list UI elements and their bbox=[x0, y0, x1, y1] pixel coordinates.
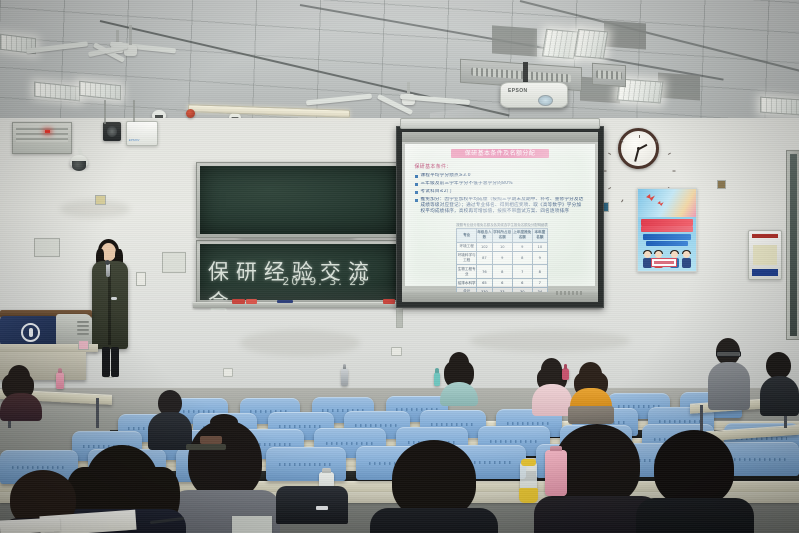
wall-poster bbox=[637, 188, 697, 272]
audience-member bbox=[440, 352, 478, 404]
poster-headline-4 bbox=[646, 241, 688, 246]
ceiling-light-panel bbox=[574, 29, 608, 59]
clock-minute-hand bbox=[634, 148, 639, 161]
ceiling bbox=[0, 0, 799, 128]
wall-smudge bbox=[470, 330, 630, 352]
projector-lens-icon bbox=[538, 95, 553, 106]
audience-member bbox=[0, 365, 42, 423]
slide-bullet: 推免加分：因学业加权平均成绩（按照三学期末及期中、补考、重修学分及达成绩等级对应… bbox=[415, 197, 586, 219]
table-header-cell: 本年度名额 bbox=[532, 229, 547, 243]
pink-thermos bbox=[56, 372, 64, 389]
wall-smudge bbox=[240, 330, 360, 356]
presentation-slide: 保研基本条件及名额分配 保研基本条件： 课程平均学分绩点≥3.0 三年级及前三学… bbox=[405, 144, 595, 286]
slide-subtitle: 保研基本条件： bbox=[415, 163, 452, 170]
desk-leg bbox=[700, 405, 703, 431]
wall-switch-plate[interactable] bbox=[95, 195, 106, 205]
torso bbox=[708, 362, 750, 410]
hair-bun bbox=[210, 414, 238, 430]
presenter-leg-left bbox=[102, 347, 110, 377]
podium-front bbox=[0, 316, 63, 346]
audience-member-foreground bbox=[370, 440, 498, 533]
audience-member bbox=[708, 338, 750, 408]
poster-headline-2 bbox=[641, 226, 692, 232]
audience-member-foreground bbox=[636, 430, 754, 533]
projector-brand-label: EPSON bbox=[508, 88, 528, 94]
head bbox=[654, 430, 734, 506]
microphone[interactable] bbox=[106, 263, 110, 277]
table-header-cell: 上年度推免名额 bbox=[512, 229, 532, 243]
ceiling-light-panel bbox=[760, 97, 799, 116]
wall-clock bbox=[618, 128, 659, 169]
torso bbox=[440, 382, 478, 406]
ceiling-light-panel bbox=[542, 29, 578, 59]
ceiling-tile-dark bbox=[492, 25, 537, 56]
head bbox=[188, 420, 262, 500]
lap bbox=[568, 406, 614, 424]
torso bbox=[0, 393, 42, 421]
desk-item bbox=[186, 444, 226, 450]
poster-figure bbox=[682, 251, 691, 268]
wall-outlet[interactable] bbox=[391, 347, 402, 356]
electrical-panel-box bbox=[12, 122, 72, 154]
slide-bullet: 课程平均学分绩点≥3.0 bbox=[415, 173, 586, 179]
wall-control-panel[interactable] bbox=[748, 230, 782, 280]
presenter bbox=[88, 239, 132, 377]
electrical-conduit bbox=[133, 100, 135, 122]
ceiling-fan bbox=[100, 25, 160, 45]
screen-label bbox=[556, 291, 582, 295]
screen-roller-case bbox=[400, 118, 600, 129]
table-row: 环境工程10210910 bbox=[457, 242, 548, 251]
torso bbox=[532, 384, 572, 416]
wall-outlet[interactable] bbox=[136, 272, 146, 286]
notebook-paper bbox=[0, 517, 60, 533]
chalk-marker[interactable] bbox=[277, 300, 293, 303]
baseball-cap bbox=[276, 486, 348, 524]
door-frame[interactable] bbox=[786, 150, 799, 340]
ceiling-fan bbox=[348, 82, 468, 108]
audience-member bbox=[568, 362, 614, 420]
chalkboard-eraser[interactable] bbox=[232, 299, 245, 304]
slide-table-caption: 按照专业划分推免名额及各类候选学生推免名额及分配明细表 bbox=[456, 222, 548, 228]
table-row: 给排水科学65667 bbox=[457, 279, 548, 288]
slide-title: 保研基本条件及名额分配 bbox=[451, 149, 550, 158]
coat-seam bbox=[108, 265, 111, 345]
table-header-cell: 年级总人数 bbox=[477, 229, 493, 243]
chalkboard-eraser[interactable] bbox=[383, 299, 395, 304]
head bbox=[392, 440, 476, 518]
ceiling-tile-dark bbox=[604, 21, 646, 50]
podium-item bbox=[78, 340, 89, 350]
desk-leg bbox=[96, 398, 99, 428]
bottle-lid-yellow bbox=[521, 459, 536, 466]
torso bbox=[760, 376, 799, 416]
status-led-indicator bbox=[45, 130, 50, 133]
torso bbox=[636, 498, 754, 533]
torso bbox=[370, 508, 498, 533]
pink-thermos bbox=[545, 450, 567, 496]
projector-mount-pole bbox=[523, 62, 528, 84]
table-header-cell: 学科所占总名额 bbox=[492, 229, 512, 243]
table-header-cell: 专业 bbox=[457, 229, 477, 243]
chalkboard-eraser[interactable] bbox=[246, 299, 257, 304]
air-conditioner-vent-small bbox=[592, 63, 626, 87]
electrical-conduit bbox=[104, 100, 106, 124]
lecture-hall-photo: EPSON bbox=[0, 0, 799, 533]
fire-alarm-bell-icon bbox=[186, 109, 195, 118]
board-rail-end bbox=[396, 306, 403, 328]
head bbox=[766, 352, 791, 379]
table-row: 环境科学与工程87989 bbox=[457, 251, 548, 265]
water-bottle bbox=[434, 372, 440, 386]
poster-headline-3 bbox=[643, 234, 692, 240]
blackboard-left: 保研经验交流会 2019. 3. 23 bbox=[196, 240, 400, 304]
poster-placard bbox=[651, 258, 677, 267]
slide-bullet: 考试科目≤2门 bbox=[415, 189, 586, 195]
projection-screen: 保研基本条件及名额分配 保研基本条件： 课程平均学分绩点≥3.0 三年级及前三学… bbox=[396, 126, 604, 308]
wall-speaker bbox=[103, 122, 121, 141]
eyeglasses-icon bbox=[716, 351, 741, 357]
audience-member bbox=[760, 352, 799, 412]
desk-item bbox=[200, 436, 222, 444]
ptz-security-camera-icon bbox=[70, 148, 88, 172]
screen-top-bar bbox=[402, 132, 598, 142]
poster-headline-1 bbox=[641, 219, 692, 226]
steel-thermos bbox=[341, 368, 348, 386]
clock-face bbox=[623, 133, 654, 164]
desk-item bbox=[232, 516, 272, 533]
wall-access-panel bbox=[162, 252, 186, 273]
projector: EPSON bbox=[500, 82, 568, 108]
wall-fixture bbox=[717, 180, 726, 189]
bottle-cap-yellow bbox=[519, 488, 538, 503]
presenter-leg-right bbox=[111, 347, 119, 377]
university-emblem bbox=[21, 323, 40, 342]
wall-access-panel bbox=[34, 238, 60, 257]
wall-outlet[interactable] bbox=[223, 368, 233, 377]
wristwatch bbox=[111, 297, 117, 300]
blackboard-date: 2019. 3. 23 bbox=[282, 275, 367, 288]
slide-table-header-row: 专业 年级总人数 学科所占总名额 上年度推免名额 本年度名额 bbox=[457, 229, 548, 243]
slide-bullet: 三年级及前三学年学分不低于总学分的80% bbox=[415, 181, 586, 187]
ceiling-tile-dark bbox=[658, 73, 700, 101]
slide-table: 按照专业划分推免名额及各类候选学生推免名额及分配明细表 专业 年级总人数 学科所… bbox=[456, 222, 548, 297]
water-bottle bbox=[562, 368, 569, 380]
blackboard-upper bbox=[196, 162, 400, 238]
wall-equipment-box: EPSON bbox=[126, 121, 158, 146]
table-row: 生物工程专业76878 bbox=[457, 265, 548, 279]
